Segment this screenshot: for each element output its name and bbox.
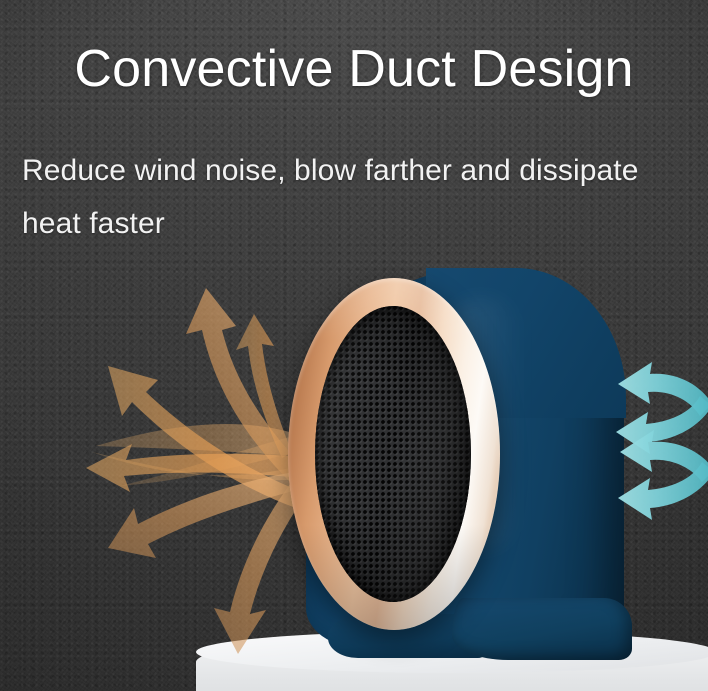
product-feature-poster: Convective Duct Design Reduce wind noise…: [0, 0, 708, 691]
subtitle-line-2: heat faster: [22, 197, 694, 250]
subtitle-line-1: Reduce wind noise, blow farther and diss…: [22, 144, 694, 197]
ceramic-space-heater: [276, 268, 626, 668]
grille-shadow: [315, 306, 471, 602]
blue-base-stand: [452, 598, 632, 660]
page-subtitle: Reduce wind noise, blow farther and diss…: [22, 144, 694, 250]
perforated-outlet-grille: [315, 306, 471, 602]
page-title: Convective Duct Design: [0, 38, 708, 100]
